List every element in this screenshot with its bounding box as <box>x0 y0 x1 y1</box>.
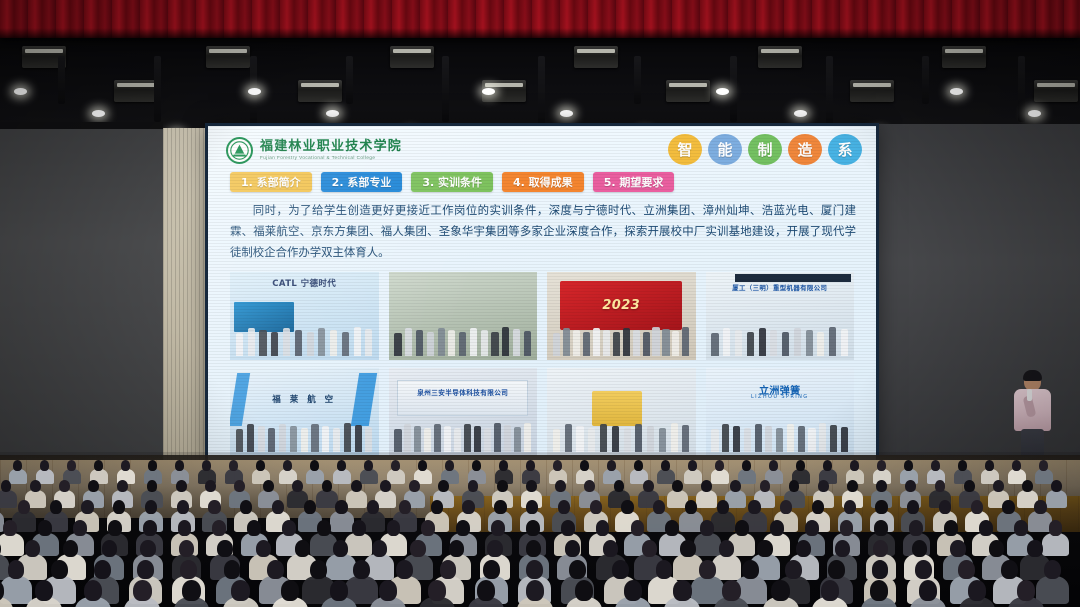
person-figure <box>647 426 654 452</box>
audience-head <box>958 460 967 471</box>
person-figure <box>424 428 431 452</box>
light-hanging-rod <box>346 56 353 104</box>
stage-light-fixture <box>942 46 986 68</box>
audience-head <box>247 520 261 536</box>
audience-head <box>418 460 427 471</box>
photo-xiagong-sanming: 厦工（三明）重型机器有限公司 <box>706 272 855 360</box>
audience-head <box>462 500 474 514</box>
audience-head <box>217 540 232 557</box>
tab-1[interactable]: 1. 系部简介 <box>230 172 312 192</box>
led-screen-slide: 福建林业职业技术学院 Fujian Forestry Vocational & … <box>208 126 876 466</box>
audience-head <box>178 520 192 536</box>
spotlight-lamp <box>716 88 729 95</box>
person-figure <box>798 426 805 452</box>
audience-head <box>904 460 913 471</box>
audience-shoulders <box>346 490 367 508</box>
audience-shoulders <box>1042 533 1069 556</box>
audience-head <box>818 480 829 492</box>
badge-0: 智 <box>668 134 702 165</box>
person-figure <box>330 330 337 356</box>
audience-head <box>558 500 570 514</box>
audience-head <box>147 480 158 492</box>
audience-head <box>909 520 923 536</box>
audience-head <box>796 540 811 557</box>
person-figure <box>733 426 740 452</box>
person-figure <box>612 426 619 452</box>
audience-head <box>1002 500 1014 514</box>
person-figure <box>283 328 290 356</box>
people-row <box>394 326 531 356</box>
tab-4[interactable]: 4. 取得成果 <box>502 172 584 192</box>
slide-header: 福建林业职业技术学院 Fujian Forestry Vocational & … <box>208 131 876 173</box>
audience-head <box>653 500 665 514</box>
audience-head <box>931 460 940 471</box>
people-row <box>711 326 848 356</box>
person-figure <box>504 425 511 452</box>
person-figure <box>494 423 501 452</box>
people-row <box>236 422 373 452</box>
audience-head <box>438 480 449 492</box>
audience-shoulders <box>711 511 735 532</box>
person-figure <box>301 428 308 452</box>
audience-head <box>596 520 610 536</box>
person-figure <box>459 332 466 356</box>
audience-head <box>497 480 508 492</box>
audience-head <box>771 580 789 601</box>
person-figure <box>759 328 766 356</box>
audience-head <box>310 560 327 579</box>
audience-head <box>877 460 886 471</box>
person-figure <box>682 425 689 452</box>
person-figure <box>841 329 848 356</box>
light-hanging-rod <box>154 56 161 122</box>
audience-shoulders <box>1046 490 1067 508</box>
audience-head <box>440 560 457 579</box>
audience-head <box>872 560 889 579</box>
person-figure <box>723 328 730 356</box>
audience-head <box>603 540 618 557</box>
person-figure <box>603 330 610 356</box>
person-figure <box>248 328 255 356</box>
audience-head <box>67 460 76 471</box>
audience-head <box>634 460 643 471</box>
audience-head <box>40 460 49 471</box>
audience-head <box>823 460 832 471</box>
audience-head <box>939 500 951 514</box>
slide-section-tabs: 1. 系部简介2. 系部专业3. 实训条件4. 取得成果5. 期望要求 <box>230 172 674 192</box>
audience-shoulders <box>711 469 729 485</box>
photo-caption: 厦工（三明）重型机器有限公司 <box>706 283 855 292</box>
audience-head <box>202 460 211 471</box>
audience-head <box>317 520 331 536</box>
audience-head <box>73 520 87 536</box>
audience-head <box>421 520 435 536</box>
spotlight-lamp <box>482 88 495 95</box>
audience-head <box>18 500 30 514</box>
person-figure <box>672 331 679 356</box>
audience-head <box>256 460 265 471</box>
audience-head <box>575 580 593 601</box>
person-figure <box>354 327 361 356</box>
audience-head <box>1014 520 1028 536</box>
audience-head <box>145 500 157 514</box>
department-badges: 智能制造系 <box>668 134 862 165</box>
badge-1: 能 <box>708 134 742 165</box>
audience-seating <box>0 452 1080 607</box>
photo-fulai-aviation: 福 莱 航 空 <box>230 368 379 456</box>
audience-head <box>292 480 303 492</box>
audience-head <box>665 520 679 536</box>
audience-head <box>94 560 111 579</box>
dark-banner-strip <box>735 274 851 282</box>
audience-head <box>94 460 103 471</box>
audience-head <box>835 540 850 557</box>
audience-head <box>396 560 413 579</box>
slide-paragraph: 同时，为了给学生创造更好更接近工作岗位的实训条件，深度与宁德时代、立洲集团、漳州… <box>230 200 856 263</box>
light-hanging-rod <box>1018 56 1025 122</box>
person-figure <box>829 327 836 356</box>
person-figure <box>438 328 445 356</box>
audience-head <box>612 560 629 579</box>
audience-head <box>688 460 697 471</box>
company-signboard <box>397 380 528 415</box>
audience-head <box>113 500 125 514</box>
person-figure <box>830 425 837 452</box>
tab-2[interactable]: 2. 系部专业 <box>321 172 403 192</box>
audience-head <box>580 460 589 471</box>
person-figure <box>808 428 815 452</box>
audience-head <box>590 500 602 514</box>
audience-head <box>526 560 543 579</box>
audience-head <box>367 500 379 514</box>
person-figure <box>355 425 362 452</box>
audience-head <box>876 480 887 492</box>
audience-head <box>212 520 226 536</box>
audience-head <box>565 540 580 557</box>
audience-head <box>282 520 296 536</box>
person-figure <box>573 330 580 356</box>
person-figure <box>553 333 560 356</box>
person-figure <box>322 426 329 452</box>
audience-head <box>553 460 562 471</box>
auditorium-scene: 福建林业职业技术学院 Fujian Forestry Vocational & … <box>0 0 1080 607</box>
person-figure <box>744 428 751 452</box>
light-hanging-rod <box>442 56 449 122</box>
audience-head <box>614 480 625 492</box>
person-figure <box>481 330 488 356</box>
yellow-backdrop <box>592 391 642 426</box>
person-figure <box>454 428 461 452</box>
tab-5[interactable]: 5. 期望要求 <box>593 172 675 192</box>
audience-shoulders <box>696 490 717 508</box>
audience-head <box>561 520 575 536</box>
person-figure <box>652 327 659 356</box>
tab-3[interactable]: 3. 实训条件 <box>411 172 493 192</box>
audience-head <box>840 520 854 536</box>
audience-head <box>642 540 657 557</box>
audience-head <box>148 460 157 471</box>
audience-head <box>387 520 401 536</box>
audience-head <box>770 520 784 536</box>
person-figure <box>414 426 421 452</box>
audience-head <box>907 500 919 514</box>
person-figure <box>583 332 590 356</box>
audience-head <box>700 520 714 536</box>
stage-light-fixture <box>1034 80 1078 102</box>
audience-head <box>409 480 420 492</box>
person-figure <box>514 427 521 452</box>
pine-tree-emblem-icon <box>226 137 253 164</box>
spotlight-lamp <box>794 110 807 117</box>
person-figure <box>394 429 401 452</box>
audience-head <box>351 480 362 492</box>
person-figure <box>770 330 777 356</box>
audience-head <box>680 540 695 557</box>
audience-head <box>912 540 927 557</box>
photo-caption: 泉州三安半导体科技有限公司 <box>389 387 538 397</box>
audience-head <box>13 460 22 471</box>
audience-head <box>283 460 292 471</box>
photo-yellow-backdrop-group <box>547 368 696 456</box>
person-figure <box>633 330 640 356</box>
audience-head <box>330 580 348 601</box>
person-figure <box>787 424 794 452</box>
audience-head <box>915 560 932 579</box>
audience-head <box>785 560 802 579</box>
audience-head <box>526 500 538 514</box>
person-figure <box>236 333 243 356</box>
person-figure <box>502 327 509 356</box>
audience-shoulders <box>694 533 721 556</box>
stage-curtain-valance <box>0 0 1080 38</box>
audience-head <box>380 480 391 492</box>
audience-head <box>295 540 310 557</box>
person-figure <box>258 426 265 452</box>
person-figure <box>427 332 434 356</box>
person-figure <box>553 429 560 452</box>
photo-caption: 2023 <box>547 298 696 313</box>
audience-shoulders <box>360 469 378 485</box>
audience-head <box>337 460 346 471</box>
stage-light-fixture <box>298 80 342 102</box>
audience-shoulders <box>0 490 17 508</box>
audience-head <box>88 480 99 492</box>
person-figure <box>470 328 477 356</box>
photo-caption: 福 莱 航 空 <box>230 393 379 405</box>
college-name-en: Fujian Forestry Vocational & Technical C… <box>260 156 402 161</box>
audience-head <box>428 580 446 601</box>
audience-head <box>8 560 25 579</box>
audience-head <box>526 460 535 471</box>
spotlight-lamp <box>950 88 963 95</box>
side-panel-left <box>0 122 163 470</box>
person-figure <box>563 328 570 356</box>
badge-3: 造 <box>788 134 822 165</box>
photo-2023-ceremony: 2023 <box>547 272 696 360</box>
person-figure <box>394 333 401 356</box>
audience-head <box>526 520 540 536</box>
person-figure <box>755 424 762 452</box>
audience-head <box>874 520 888 536</box>
audience-head <box>256 540 271 557</box>
person-figure <box>295 330 302 356</box>
audience-head <box>483 560 500 579</box>
audience-head <box>472 460 481 471</box>
audience-head <box>322 480 333 492</box>
photo-lizhou-spring: 立洲弹簧LIZHOU SPRING <box>706 368 855 456</box>
badge-2: 制 <box>748 134 782 165</box>
light-hanging-rod <box>922 56 929 104</box>
audience-head <box>621 500 633 514</box>
audience-shoulders <box>9 469 27 485</box>
audience-head <box>364 460 373 471</box>
audience-head <box>133 580 151 601</box>
audience-head <box>353 560 370 579</box>
audience-head <box>63 540 78 557</box>
audience-head <box>231 580 249 601</box>
audience-head <box>456 520 470 536</box>
person-figure <box>711 333 718 356</box>
audience-head <box>117 480 128 492</box>
audience-head <box>742 560 759 579</box>
person-figure <box>344 423 351 452</box>
audience-head <box>757 540 772 557</box>
audience-head <box>499 460 508 471</box>
audience-shoulders <box>330 511 354 532</box>
stage-light-fixture <box>206 46 250 68</box>
audience-shoulders <box>1035 469 1053 485</box>
audience-head <box>1034 500 1046 514</box>
audience-shoulders <box>333 469 351 485</box>
person-figure <box>747 332 754 356</box>
audience-head <box>468 480 479 492</box>
person-figure <box>794 328 801 356</box>
audience-head <box>760 480 771 492</box>
photo-group-lobby <box>389 272 538 360</box>
audience-head <box>263 480 274 492</box>
person-figure <box>404 424 411 452</box>
audience-head <box>38 520 52 536</box>
audience-head <box>919 580 937 601</box>
ceiling <box>0 36 1080 132</box>
person-figure <box>416 330 423 356</box>
audience-shoulders <box>1036 576 1069 605</box>
person-figure <box>776 428 783 452</box>
audience-head <box>30 480 41 492</box>
light-hanging-rod <box>730 56 737 122</box>
audience-head <box>143 520 157 536</box>
audience-head <box>487 540 502 557</box>
person-figure <box>722 424 729 452</box>
audience-head <box>935 480 946 492</box>
person-figure <box>342 332 349 356</box>
presenter-hair <box>1023 370 1042 381</box>
audience-head <box>234 480 245 492</box>
audience-head <box>180 560 197 579</box>
audience-head <box>335 500 347 514</box>
audience-head <box>494 500 506 514</box>
person-figure <box>659 428 666 452</box>
audience-head <box>844 500 856 514</box>
audience-head <box>108 520 122 536</box>
audience-head <box>821 580 839 601</box>
audience-head <box>272 500 284 514</box>
audience-shoulders <box>0 533 24 556</box>
person-figure <box>671 423 678 452</box>
person-figure <box>448 330 455 356</box>
audience-head <box>905 480 916 492</box>
spotlight-lamp <box>1028 110 1041 117</box>
audience-head <box>310 460 319 471</box>
audience-head <box>35 580 53 601</box>
person-figure <box>484 428 491 452</box>
people-row <box>711 422 848 452</box>
person-figure <box>236 429 243 452</box>
people-row <box>553 422 690 452</box>
person-figure <box>524 423 531 452</box>
person-figure <box>623 328 630 356</box>
audience-shoulders <box>326 554 356 580</box>
audience-head <box>661 460 670 471</box>
audience-head <box>805 520 819 536</box>
photo-caption-sub: LIZHOU SPRING <box>706 394 855 400</box>
audience-head <box>672 480 683 492</box>
person-figure <box>593 328 600 356</box>
microphone-icon <box>1027 389 1032 401</box>
audience-head <box>1001 560 1018 579</box>
audience-head <box>84 580 102 601</box>
audience-head <box>958 560 975 579</box>
audience-head <box>985 460 994 471</box>
audience-head <box>796 460 805 471</box>
audience-head <box>607 460 616 471</box>
audience-head <box>175 460 184 471</box>
audience-head <box>372 540 387 557</box>
audience-head <box>51 560 68 579</box>
audience-head <box>780 500 792 514</box>
person-figure <box>444 426 451 452</box>
person-figure <box>513 329 520 356</box>
audience-head <box>1039 460 1048 471</box>
audience-shoulders <box>684 469 702 485</box>
audience-head <box>176 480 187 492</box>
audience-head <box>449 540 464 557</box>
stage-light-truss <box>0 36 1080 132</box>
audience-head <box>624 580 642 601</box>
audience-head <box>979 520 993 536</box>
audience-head <box>352 520 366 536</box>
photo-catl-showroom: CATL 宁德时代 <box>230 272 379 360</box>
audience-head <box>748 500 760 514</box>
person-figure <box>841 427 848 452</box>
audience-head <box>182 580 200 601</box>
person-figure <box>613 332 620 356</box>
audience-head <box>1 480 12 492</box>
audience-head <box>177 500 189 514</box>
audience-head <box>304 500 316 514</box>
person-figure <box>819 423 826 452</box>
person-figure <box>524 331 531 356</box>
person-figure <box>491 332 498 356</box>
person-figure <box>271 332 278 356</box>
person-figure <box>268 428 275 452</box>
audience-head <box>81 500 93 514</box>
people-row <box>553 326 690 356</box>
audience-head <box>742 460 751 471</box>
spotlight-lamp <box>560 110 573 117</box>
audience-head <box>229 460 238 471</box>
person-figure <box>806 330 813 356</box>
